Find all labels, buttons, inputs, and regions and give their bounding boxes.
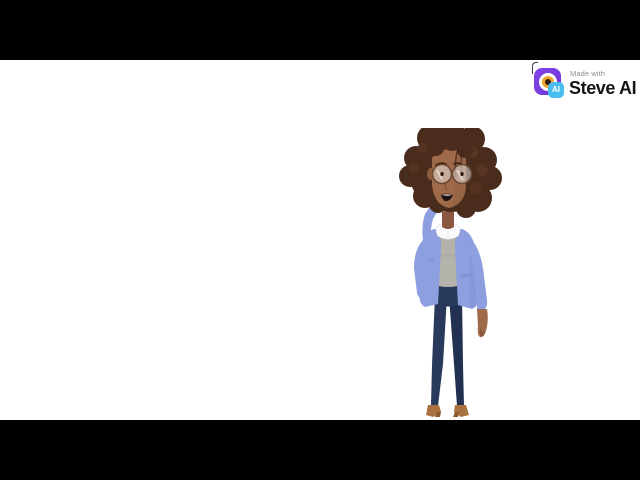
steve-ai-logo: AI <box>531 62 565 102</box>
slide-canvas <box>0 60 640 420</box>
watermark-text-block: Made with Steve AI <box>569 69 636 98</box>
video-frame: What makes gossip protocols so cool? The… <box>0 0 640 480</box>
presenter-character-illustration <box>392 128 522 423</box>
ai-badge: AI <box>548 82 564 98</box>
letterbox-top-bar <box>0 0 640 60</box>
steve-ai-watermark: AI Made with Steve AI <box>531 62 636 102</box>
made-with-label: Made with <box>570 69 636 78</box>
letterbox-bottom-bar <box>0 420 640 480</box>
steve-ai-brand-label: Steve AI <box>569 79 636 98</box>
